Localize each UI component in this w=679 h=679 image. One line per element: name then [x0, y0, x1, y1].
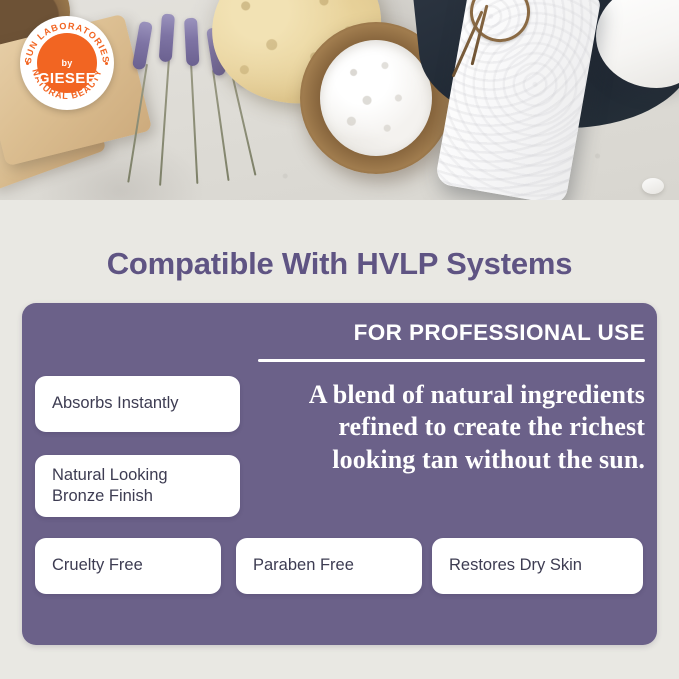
logo-core-circle: by GIESEE ™: [37, 33, 97, 93]
product-feature-page: SUN LABORATORIES NATURAL BEAUTY by GIESE…: [0, 0, 679, 679]
logo-dot-right: [105, 62, 108, 65]
feature-card-paraben-free: Paraben Free: [236, 538, 422, 594]
logo-by-label: by: [37, 59, 97, 68]
pebble: [642, 178, 664, 194]
feature-label: Natural Looking Bronze Finish: [52, 465, 168, 508]
feature-label-line1: Natural Looking: [52, 465, 168, 486]
feature-label: Absorbs Instantly: [52, 393, 179, 414]
logo-brand-name: GIESEE: [37, 71, 97, 86]
feature-label: Cruelty Free: [52, 555, 143, 576]
feature-card-cruelty-free: Cruelty Free: [35, 538, 221, 594]
page-headline: Compatible With HVLP Systems: [0, 247, 679, 281]
brand-logo-badge: SUN LABORATORIES NATURAL BEAUTY by GIESE…: [20, 16, 114, 110]
feature-label-line2: Bronze Finish: [52, 486, 168, 507]
feature-label: Restores Dry Skin: [449, 555, 582, 576]
product-description: A blend of natural ingredients refined t…: [258, 379, 645, 477]
bath-salt: [320, 40, 432, 156]
feature-card-absorbs-instantly: Absorbs Instantly: [35, 376, 240, 432]
hero-photo: SUN LABORATORIES NATURAL BEAUTY by GIESE…: [0, 0, 679, 200]
title-divider: [258, 359, 645, 362]
panel-right-column: FOR PROFESSIONAL USE A blend of natural …: [258, 320, 645, 476]
logo-dot-left: [26, 62, 29, 65]
feature-card-restores-dry-skin: Restores Dry Skin: [432, 538, 643, 594]
feature-label: Paraben Free: [253, 555, 354, 576]
feature-card-natural-looking-bronze-finish: Natural Looking Bronze Finish: [35, 455, 240, 517]
professional-use-title: FOR PROFESSIONAL USE: [258, 320, 645, 346]
logo-trademark: ™: [99, 61, 104, 67]
features-panel: FOR PROFESSIONAL USE A blend of natural …: [22, 303, 657, 645]
